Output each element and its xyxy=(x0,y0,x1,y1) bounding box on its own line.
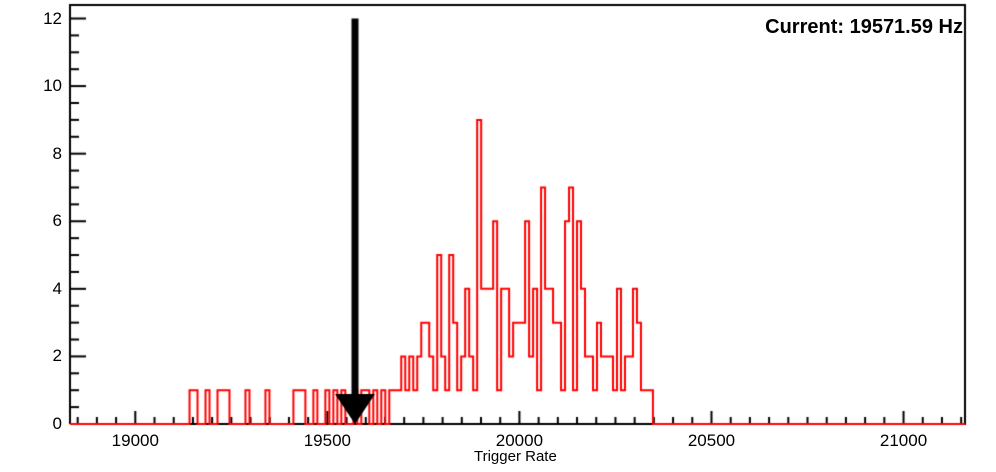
y-tick-label: 6 xyxy=(53,211,62,231)
x-tick-label: 20500 xyxy=(688,431,735,451)
trigger-rate-histogram-panel: Current: 19571.59 Hz Trigger Rate 190001… xyxy=(0,0,996,472)
histogram-canvas xyxy=(0,0,996,472)
y-tick-label: 4 xyxy=(53,279,62,299)
x-tick-label: 19500 xyxy=(304,431,351,451)
x-tick-label: 20000 xyxy=(496,431,543,451)
current-rate-title: Current: 19571.59 Hz xyxy=(765,16,963,39)
x-tick-label: 19000 xyxy=(112,431,159,451)
x-tick-label: 21000 xyxy=(880,431,927,451)
y-tick-label: 12 xyxy=(43,9,62,29)
y-tick-label: 10 xyxy=(43,76,62,96)
y-tick-label: 0 xyxy=(53,414,62,434)
y-tick-label: 2 xyxy=(53,346,62,366)
y-tick-label: 8 xyxy=(53,144,62,164)
